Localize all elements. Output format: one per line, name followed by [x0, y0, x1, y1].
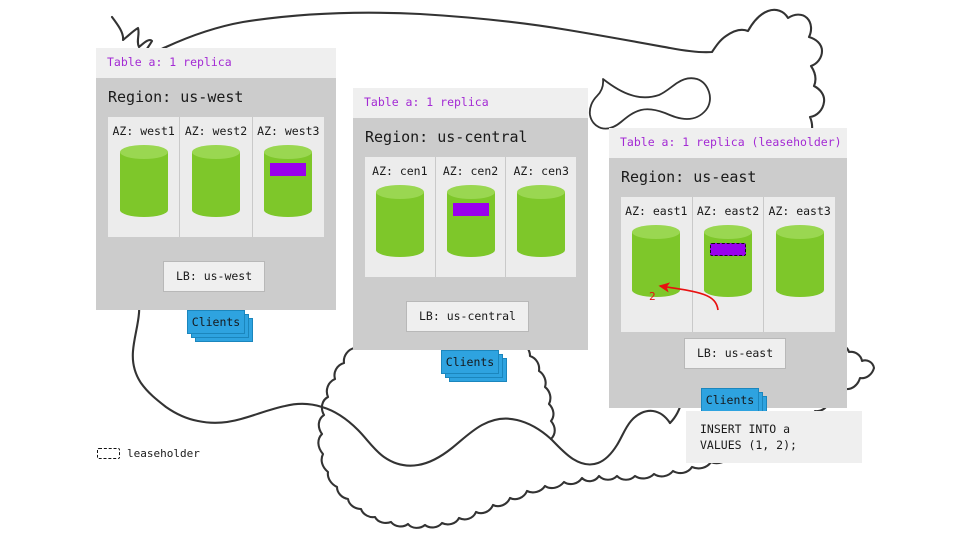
db-node-icon[interactable]	[264, 145, 312, 217]
region-body: Region: us-east AZ: east1 AZ: east2	[609, 158, 847, 408]
region-title: Region: us-west	[96, 78, 336, 117]
db-node-icon[interactable]	[776, 225, 824, 297]
az-label: AZ: east3	[764, 206, 835, 218]
az-label: AZ: west2	[180, 126, 251, 138]
db-node-icon[interactable]	[517, 185, 565, 257]
region-header-label: Table a: 1 replica	[96, 48, 336, 78]
az-label: AZ: east1	[621, 206, 692, 218]
db-node-icon[interactable]	[376, 185, 424, 257]
clients-button[interactable]: Clients	[441, 350, 499, 374]
clients-label: Clients	[441, 350, 499, 374]
replica-marker	[270, 163, 306, 176]
diagram-canvas: Table a: 1 replica Region: us-west AZ: w…	[0, 0, 960, 540]
az-label: AZ: cen2	[436, 166, 506, 178]
db-node-icon[interactable]	[447, 185, 495, 257]
region-panel-us-central: Table a: 1 replica Region: us-central AZ…	[353, 88, 588, 350]
legend-leaseholder: leaseholder	[97, 448, 200, 459]
az-row: AZ: west1 AZ: west2 AZ: west3	[108, 117, 324, 237]
load-balancer-box[interactable]: LB: us-east	[684, 338, 786, 370]
clients-label: Clients	[187, 310, 245, 334]
replica-marker-leaseholder	[710, 243, 746, 256]
az-cell-east3[interactable]: AZ: east3	[764, 197, 835, 332]
region-title: Region: us-east	[609, 158, 847, 197]
region-body: Region: us-central AZ: cen1 AZ: cen2	[353, 118, 588, 350]
db-node-icon[interactable]	[192, 145, 240, 217]
load-balancer-box[interactable]: LB: us-west	[163, 261, 265, 293]
az-cell-west2[interactable]: AZ: west2	[180, 117, 252, 237]
az-cell-west1[interactable]: AZ: west1	[108, 117, 180, 237]
sql-statement-note: INSERT INTO a VALUES (1, 2);	[686, 411, 862, 463]
az-cell-east1[interactable]: AZ: east1	[621, 197, 693, 332]
clients-button[interactable]: Clients	[701, 388, 759, 412]
az-label: AZ: cen3	[506, 166, 576, 178]
legend-label: leaseholder	[127, 448, 200, 459]
region-header-label: Table a: 1 replica	[353, 88, 588, 118]
load-balancer-box[interactable]: LB: us-central	[406, 301, 529, 333]
db-node-icon[interactable]	[704, 225, 752, 297]
az-cell-cen2[interactable]: AZ: cen2	[436, 157, 507, 277]
dashed-rect-icon	[97, 448, 120, 459]
db-node-icon[interactable]	[632, 225, 680, 297]
az-cell-west3[interactable]: AZ: west3	[253, 117, 324, 237]
az-label: AZ: east2	[693, 206, 764, 218]
az-row: AZ: cen1 AZ: cen2 AZ: cen3	[365, 157, 576, 277]
az-label: AZ: west3	[253, 126, 324, 138]
clients-button[interactable]: Clients	[187, 310, 245, 334]
az-label: AZ: west1	[108, 126, 179, 138]
region-panel-us-east: Table a: 1 replica (leaseholder) Region:…	[609, 128, 847, 408]
az-cell-east2[interactable]: AZ: east2	[693, 197, 765, 332]
annotation-step-number: 2	[649, 291, 656, 302]
db-node-icon[interactable]	[120, 145, 168, 217]
replica-marker	[453, 203, 489, 216]
az-cell-cen1[interactable]: AZ: cen1	[365, 157, 436, 277]
region-panel-us-west: Table a: 1 replica Region: us-west AZ: w…	[96, 48, 336, 310]
clients-label: Clients	[701, 388, 759, 412]
az-row: AZ: east1 AZ: east2 AZ: east3	[621, 197, 835, 332]
region-body: Region: us-west AZ: west1 AZ: west2 AZ: …	[96, 78, 336, 310]
az-cell-cen3[interactable]: AZ: cen3	[506, 157, 576, 277]
region-header-label: Table a: 1 replica (leaseholder)	[609, 128, 847, 158]
az-label: AZ: cen1	[365, 166, 435, 178]
region-title: Region: us-central	[353, 118, 588, 157]
